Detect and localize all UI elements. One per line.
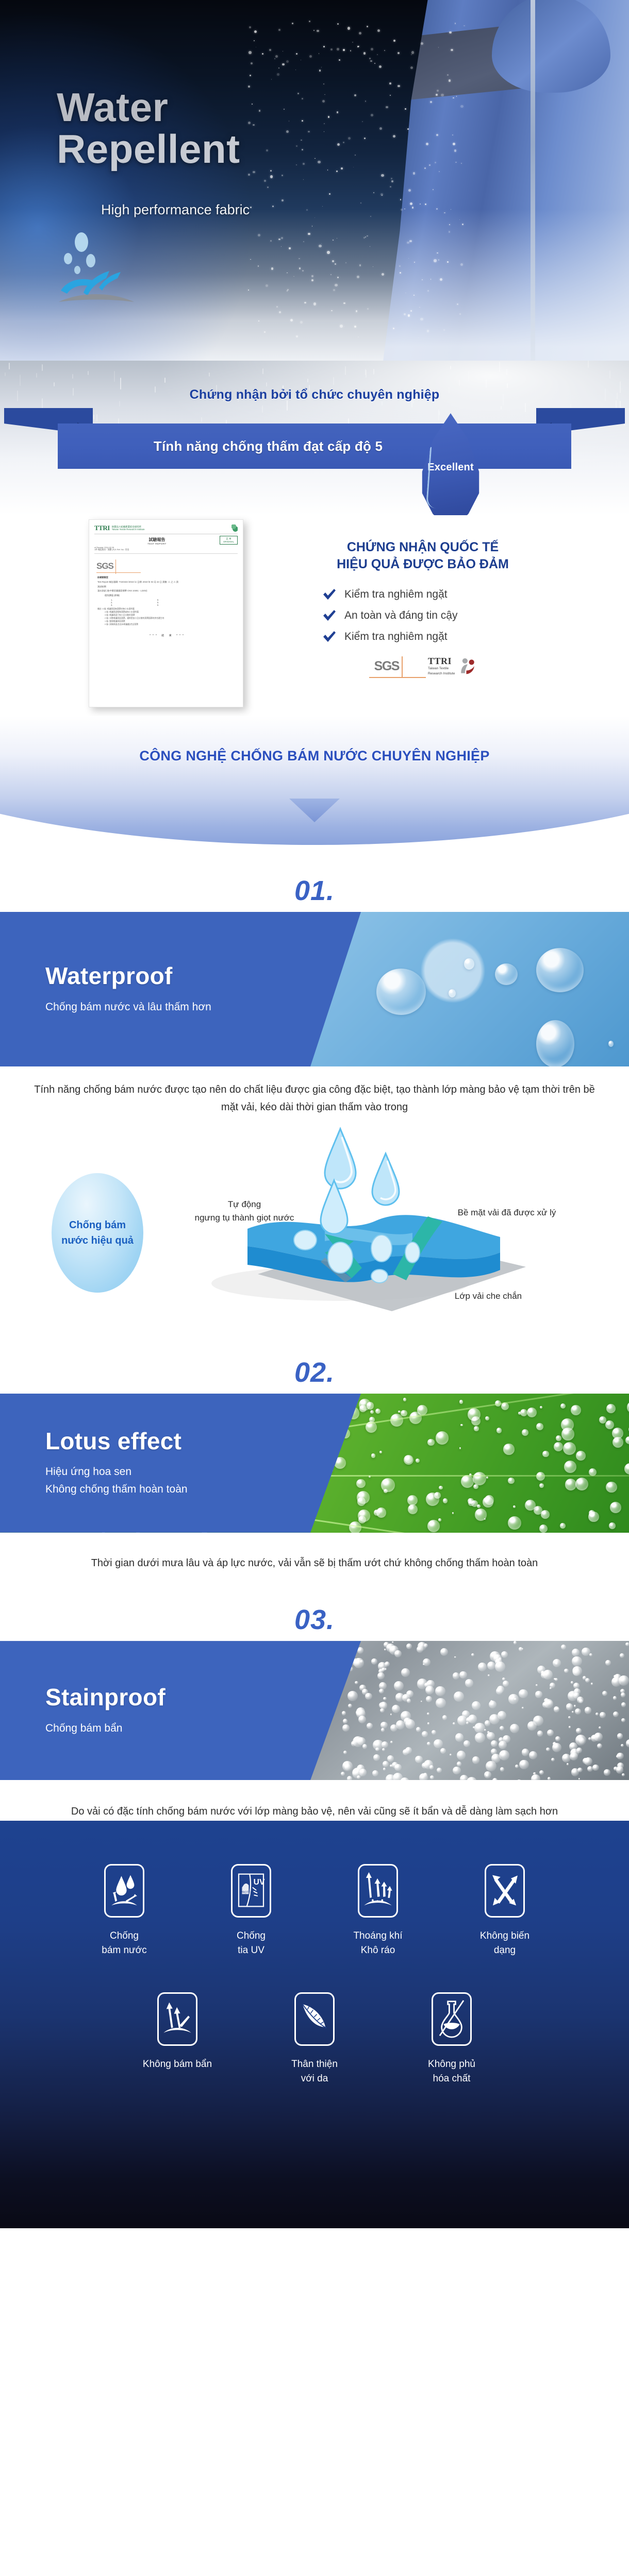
section-number-01: 01. xyxy=(0,871,629,912)
grade-banner: Tính năng chống thấm đạt cấp độ 5 Excell… xyxy=(4,408,625,469)
sgs-logo: SGS xyxy=(374,659,399,674)
feature-line2: Khô ráo xyxy=(361,1945,395,1956)
repel-arrows-glyph xyxy=(159,1994,196,2043)
section-waterproof: Waterproof Chống bám nước và lâu thấm hơ… xyxy=(0,912,629,1066)
flask-crossed-glyph xyxy=(433,1994,470,2043)
lotus-subtitle: Hiệu ứng hoa sen Không chống thấm hoàn t… xyxy=(45,1463,361,1498)
feature-line2: với da xyxy=(301,2073,328,2084)
ttri-logo-line1: Taiwan Textile xyxy=(428,667,455,671)
feature-breathable: Thoáng khí Khô ráo xyxy=(339,1864,417,1958)
hero-subtitle: High performance fabric xyxy=(101,202,250,218)
uv-protect-icon: UV PROTECT xyxy=(231,1864,271,1918)
feature-line1: Không phủ xyxy=(428,2059,475,2070)
document-result-label: 測試結果: xyxy=(97,585,238,588)
score-value: 5 xyxy=(157,604,204,606)
grade-banner-bar: Tính năng chống thấm đạt cấp độ 5 xyxy=(58,423,571,469)
certification-ribbon-section: Chứng nhận bởi tổ chức chuyên nghiệp Tín… xyxy=(0,361,629,515)
feature-line1: Không bám bẩn xyxy=(143,2059,212,2070)
check-icon xyxy=(323,631,336,642)
lotus-subtitle-line2: Không chống thấm hoàn toàn xyxy=(45,1483,188,1495)
note-row: 0 級: 試樣表面(包含未噴灑處)完全濕潤 xyxy=(105,623,238,626)
document-org-names: 財團法人紡織產業綜合研究所 Taiwan Textile Research In… xyxy=(112,526,145,531)
document-title-cn: 試驗報告 xyxy=(149,537,165,542)
certificate-heading-line1: CHỨNG NHẬN QUỐC TẾ xyxy=(347,540,499,554)
score-no: 3. xyxy=(111,604,157,606)
water-drop-arrow-glyph xyxy=(106,1866,143,1915)
bubble-text: Chống bám nước hiệu quả xyxy=(61,1217,134,1248)
protect-text: PROTECT xyxy=(241,1891,255,1894)
stainproof-title: Stainproof xyxy=(45,1684,361,1710)
ttri-logo-text: TTRI Taiwan Textile Research Institute xyxy=(428,656,455,676)
ttri-logo-line2: Research Institute xyxy=(428,672,455,676)
feature-line1: Chống xyxy=(110,1930,139,1941)
document-sgs-mark: SGS xyxy=(96,561,113,571)
section-stainproof: Stainproof Chống bám bẩn xyxy=(0,1641,629,1780)
feature-line2: bám nước xyxy=(102,1945,147,1956)
feature-skin-friendly: Thân thiện với da xyxy=(276,1992,353,2087)
feature-line2: dạng xyxy=(494,1945,516,1956)
certificate-text-block: CHỨNG NHẬN QUỐC TẾ HIỆU QUẢ ĐƯỢC BẢO ĐẢM… xyxy=(278,539,588,676)
original-cn: 正 本 xyxy=(226,537,231,540)
feature-line2: hóa chất xyxy=(433,2073,471,2084)
document-org-en: Taiwan Textile Research Institute xyxy=(112,528,145,531)
document-qty: 1件 報告頁次／頁數 (P)/1 Ref. No.: 空白 xyxy=(94,549,238,551)
original-en: ORIGINAL xyxy=(223,540,234,543)
document-divider xyxy=(94,553,238,554)
feature-caption: Thân thiện với da xyxy=(276,2057,353,2087)
effective-repellency-bubble: Chống bám nước hiệu quả xyxy=(52,1173,143,1293)
cross-arrows-glyph xyxy=(486,1866,523,1915)
certificate-heading: CHỨNG NHẬN QUỐC TẾ HIỆU QUẢ ĐƯỢC BẢO ĐẢM xyxy=(278,539,588,573)
lotus-text-panel: Lotus effect Hiệu ứng hoa sen Không chốn… xyxy=(0,1394,361,1533)
jacket-hood xyxy=(492,0,610,93)
feature-row-1: Chống bám nước UV PROTECT xyxy=(0,1864,629,1958)
ttri-logo: TTRI Taiwan Textile Research Institute xyxy=(428,656,476,676)
technology-banner: CÔNG NGHỆ CHỐNG BÁM NƯỚC CHUYÊN NGHIỆP xyxy=(0,716,629,871)
check-item: Kiểm tra nghiêm ngặt xyxy=(323,588,588,601)
feature-footer: Chống bám nước UV PROTECT xyxy=(0,1821,629,2228)
stainproof-description: Do vải có đặc tính chống bám nước với lớ… xyxy=(31,1803,598,1820)
feature-row-2: Không bám bẩn Thân t xyxy=(0,1992,629,2087)
document-end-mark: *** 結 束 *** xyxy=(97,634,238,637)
infographic-page: Water Repellent High performance fabric … xyxy=(0,0,629,2228)
certified-by-text: Chứng nhận bởi tổ chức chuyên nghiệp xyxy=(0,387,629,402)
uv-shield-glyph: UV PROTECT xyxy=(233,1866,270,1915)
no-deform-icon xyxy=(485,1864,525,1918)
feature-caption: Chống tia UV xyxy=(212,1929,290,1958)
feature-no-deform: Không biến dạng xyxy=(466,1864,543,1958)
check-label: An toàn và đáng tin cậy xyxy=(344,609,458,622)
jacket-photo xyxy=(361,0,629,361)
waterproof-diagram: Chống bám nước hiệu quả Tự động ngưng tụ… xyxy=(0,1120,629,1320)
document-sample-label: 個別讀值 (原樣) xyxy=(105,594,238,597)
excellent-label: Excellent xyxy=(427,462,474,473)
score-row: 3.5 xyxy=(111,604,238,606)
check-icon xyxy=(323,589,336,600)
check-label: Kiểm tra nghiêm ngặt xyxy=(344,588,448,601)
bubble-line1: Chống bám xyxy=(69,1219,126,1231)
waterproof-text-panel: Waterproof Chống bám nước và lâu thấm hơ… xyxy=(0,912,361,1066)
lotus-subtitle-line1: Hiệu ứng hoa sen xyxy=(45,1466,131,1478)
document-header: TTRI 財團法人紡織產業綜合研究所 Taiwan Textile Resear… xyxy=(94,524,238,534)
feature-water-repellent: Chống bám nước xyxy=(86,1864,163,1958)
section-lotus-effect: Lotus effect Hiệu ứng hoa sen Không chốn… xyxy=(0,1394,629,1533)
waterproof-title: Waterproof xyxy=(45,963,361,989)
certificate-section: TTRI 財團法人紡織產業綜合研究所 Taiwan Textile Resear… xyxy=(0,515,629,716)
certificate-check-list: Kiểm tra nghiêm ngặtAn toàn và đáng tin … xyxy=(323,588,588,643)
section-number-03: 03. xyxy=(0,1572,629,1641)
check-label: Kiểm tra nghiêm ngặt xyxy=(344,631,448,643)
feature-caption: Không biến dạng xyxy=(466,1929,543,1958)
breathable-dry-icon xyxy=(358,1864,398,1918)
lotus-description: Thời gian dưới mưa lâu và áp lực nước, v… xyxy=(31,1554,598,1572)
fabric-cross-section-illustration xyxy=(170,1120,541,1320)
feature-line1: Chống xyxy=(237,1930,266,1941)
feature-line1: Thoáng khí xyxy=(353,1930,402,1941)
certificate-heading-line2: HIỆU QUẢ ĐƯỢC BẢO ĐẢM xyxy=(337,557,509,571)
document-ttri-abbr: TTRI xyxy=(94,524,110,532)
document-report-line: Test Report 報告號碼: TX20433 /2019 /LI 日期: … xyxy=(97,581,238,584)
certification-logos: SGS TTRI Taiwan Textile Research Institu… xyxy=(263,656,588,676)
grade-banner-text: Tính năng chống thấm đạt cấp độ 5 xyxy=(154,438,475,454)
feature-caption: Không phủ hóa chất xyxy=(413,2057,490,2087)
document-notes: 備註: 5 級: 噴灑表面無濕潤亦無小水滴附著4 級: 噴灑表面輕微濕潤或有小水… xyxy=(97,608,238,626)
document-sgs-underline xyxy=(96,572,141,573)
feature-stain-resistant: Không bám bẩn xyxy=(139,1992,216,2087)
hero-title: Water Repellent xyxy=(57,87,240,170)
hero-title-line2: Repellent xyxy=(57,128,240,170)
feature-caption: Thoáng khí Khô ráo xyxy=(339,1929,417,1958)
feature-caption: Không bám bẩn xyxy=(139,2057,216,2072)
document-title: 試驗報告 TEST REPORT xyxy=(94,537,238,545)
stainproof-subtitle: Chống bám bẩn xyxy=(45,1720,361,1737)
feature-line1: Không biến xyxy=(480,1930,529,1941)
document-lab: 紡織實驗室 xyxy=(97,576,238,579)
document-body: 紡織實驗室 Test Report 報告號碼: TX20433 /2019 /L… xyxy=(97,576,238,637)
check-icon xyxy=(323,610,336,621)
test-report-document: TTRI 財團法人紡織產業綜合研究所 Taiwan Textile Resear… xyxy=(89,519,243,707)
stainproof-text-panel: Stainproof Chống bám bẩn xyxy=(0,1641,361,1780)
no-chemical-flask-icon xyxy=(432,1992,472,2046)
technology-banner-title: CÔNG NGHỆ CHỐNG BÁM NƯỚC CHUYÊN NGHIỆP xyxy=(0,748,629,764)
ttri-logo-abbr: TTRI xyxy=(428,656,452,666)
stain-resistant-icon xyxy=(157,1992,197,2046)
document-test-name: 潑水測試 (依中華民國國家標準 CNS 10461 - L3202) xyxy=(97,589,238,592)
feather-glyph xyxy=(296,1994,333,2043)
check-item: An toàn và đáng tin cậy xyxy=(323,609,588,622)
banner-swoosh xyxy=(0,716,629,845)
waterproof-subtitle: Chống bám nước và lâu thấm hơn xyxy=(45,998,361,1016)
document-score-table: 1.52.53.5 xyxy=(111,599,238,606)
document-org-cn: 財團法人紡織產業綜合研究所 xyxy=(112,526,141,528)
bubble-line2: nước hiệu quả xyxy=(61,1235,134,1246)
hero-title-line1: Water xyxy=(57,84,168,130)
original-stamp: 正 本 ORIGINAL xyxy=(220,536,238,545)
ttri-logo-mark-icon xyxy=(231,524,238,532)
section-number-02: 02. xyxy=(0,1320,629,1394)
feature-line2: tia UV xyxy=(238,1945,264,1956)
document-title-en: TEST REPORT xyxy=(94,543,238,545)
feature-uv-protect: UV PROTECT Chống tia UV xyxy=(212,1864,290,1958)
skin-friendly-feather-icon xyxy=(294,1992,335,2046)
waterproof-description: Tính năng chống bám nước được tạo nên do… xyxy=(31,1081,598,1116)
ttri-figure-icon xyxy=(459,657,476,675)
lotus-title: Lotus effect xyxy=(45,1428,361,1454)
feature-line1: Thân thiện xyxy=(291,2059,338,2070)
water-repellent-icon xyxy=(104,1864,144,1918)
air-arrows-glyph xyxy=(359,1866,396,1915)
feature-caption: Chống bám nước xyxy=(86,1929,163,1958)
check-item: Kiểm tra nghiêm ngặt xyxy=(323,631,588,643)
hero-banner: Water Repellent High performance fabric xyxy=(0,0,629,361)
feature-no-chemicals: Không phủ hóa chất xyxy=(413,1992,490,2087)
water-repellent-splash-logo xyxy=(52,227,155,309)
uv-badge-text: UV xyxy=(254,1877,265,1886)
